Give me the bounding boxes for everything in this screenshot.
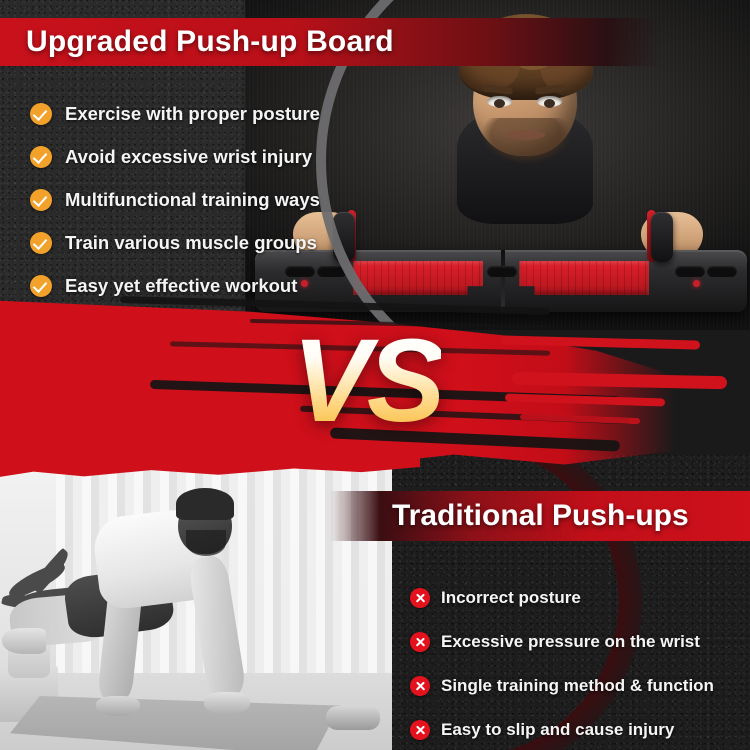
benefit-label: Exercise with proper posture [65,103,320,125]
home-athlete-foot [2,628,46,654]
home-athlete-back-hand [96,696,140,716]
list-item: Incorrect posture [410,583,750,613]
list-item: Easy to slip and cause injury [410,715,750,745]
list-item: Exercise with proper posture [30,96,360,131]
photo-dumbbells [326,706,380,730]
red-brush-stroke [512,372,727,389]
check-circle-icon [30,189,52,211]
list-item: Excessive pressure on the wrist [410,627,750,657]
check-circle-icon [30,146,52,168]
drawback-label: Single training method & function [441,676,714,696]
red-brush-stroke [520,414,640,424]
cross-circle-icon [410,720,430,740]
red-brush-stroke [500,335,700,349]
upgraded-board-section: Upgraded Push-up Board Exercise with pro… [0,0,750,330]
check-circle-icon [30,232,52,254]
list-item: Avoid excessive wrist injury [30,139,360,174]
cross-circle-icon [410,632,430,652]
benefit-label: Multifunctional training ways [65,189,320,211]
board-color-marker [693,280,700,287]
section-title: Traditional Push-ups [392,493,689,539]
red-brush-stroke [505,393,665,406]
benefit-label: Easy yet effective workout [65,275,297,297]
drawback-label: Excessive pressure on the wrist [441,632,700,652]
home-athlete-beard [186,530,226,556]
home-athlete-front-hand [204,692,250,714]
drawback-label: Easy to slip and cause injury [441,720,674,740]
benefit-list: Exercise with proper posture Avoid exces… [30,96,360,311]
board-handle-right [651,212,673,262]
list-item: Easy yet effective workout [30,268,360,303]
list-item: Multifunctional training ways [30,182,360,217]
board-slot [707,266,737,277]
product-comparison-poster: Upgraded Push-up Board Exercise with pro… [0,0,750,750]
board-slot [675,266,705,277]
cross-circle-icon [410,676,430,696]
list-item: Train various muscle groups [30,225,360,260]
drawback-list: Incorrect posture Excessive pressure on … [410,583,750,750]
page-title: Upgraded Push-up Board [26,20,394,64]
drawback-label: Incorrect posture [441,588,581,608]
check-circle-icon [30,103,52,125]
home-athlete-hair [176,488,234,520]
benefit-label: Avoid excessive wrist injury [65,146,312,168]
list-item: Single training method & function [410,671,750,701]
traditional-pushups-section: Traditional Push-ups Incorrect posture E… [0,455,750,750]
cross-circle-icon [410,588,430,608]
benefit-label: Train various muscle groups [65,232,317,254]
check-circle-icon [30,275,52,297]
versus-label: VS [292,322,441,440]
